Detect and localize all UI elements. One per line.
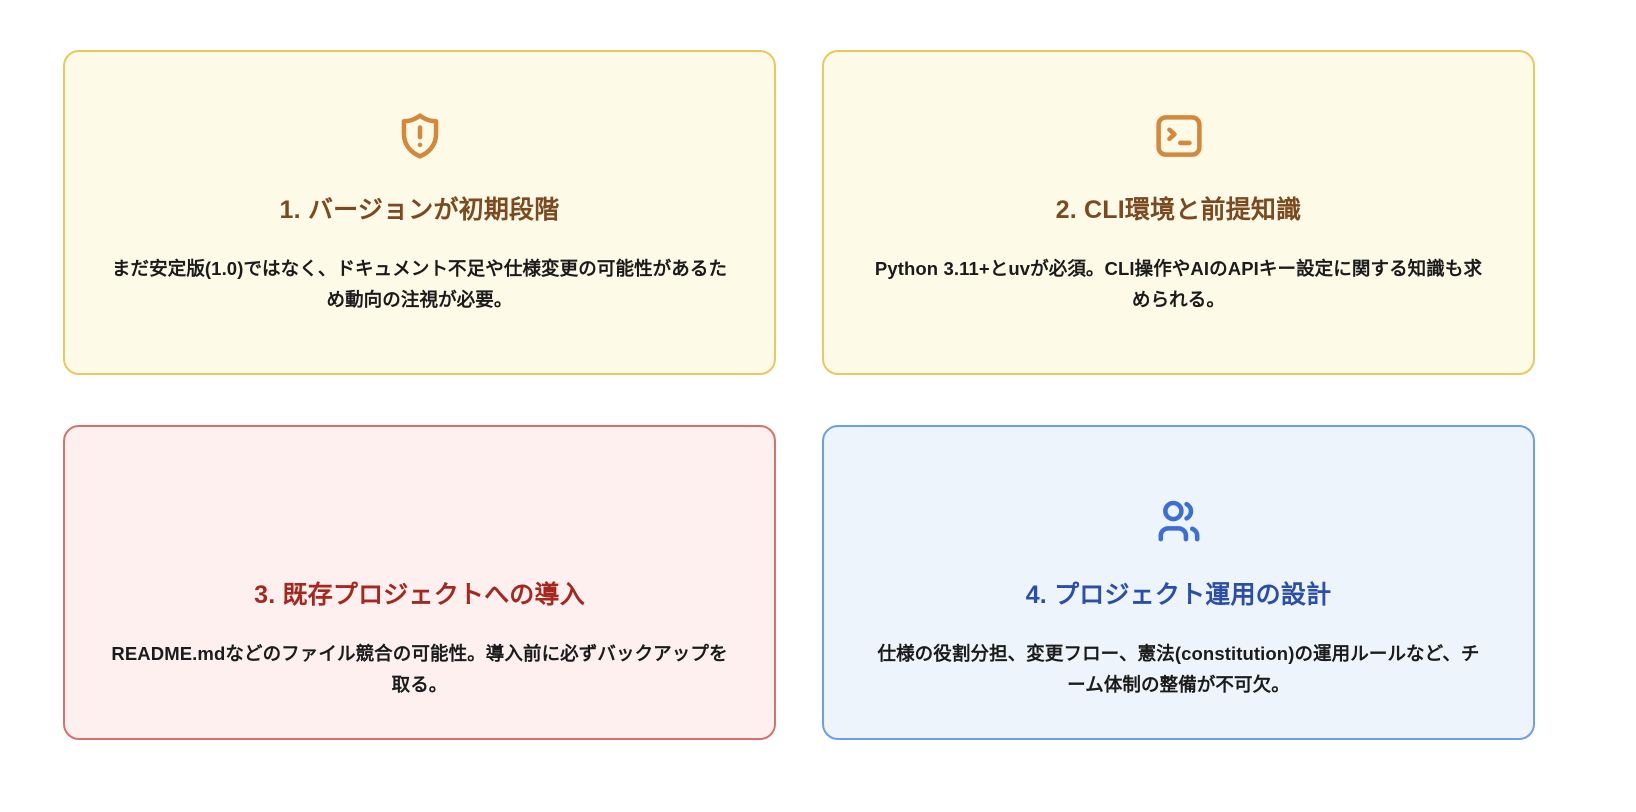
terminal-icon [1151,108,1207,164]
card-existing-project-adoption[interactable]: 3. 既存プロジェクトへの導入 README.mdなどのファイル競合の可能性。導… [63,425,776,740]
shield-alert-icon [392,108,448,164]
card-grid: 1. バージョンが初期段階 まだ安定版(1.0)ではなく、ドキュメント不足や仕様… [0,0,1636,812]
card-icon-placeholder [392,493,448,549]
users-icon [1151,493,1207,549]
card-title: 4. プロジェクト運用の設計 [1026,579,1332,612]
card-description: まだ安定版(1.0)ではなく、ドキュメント不足や仕様変更の可能性があるため動向の… [110,253,730,317]
card-project-operation-design[interactable]: 4. プロジェクト運用の設計 仕様の役割分担、変更フロー、憲法(constitu… [822,425,1535,740]
card-description: Python 3.11+とuvが必須。CLI操作やAIのAPIキー設定に関する知… [869,253,1489,317]
card-version-early-stage[interactable]: 1. バージョンが初期段階 まだ安定版(1.0)ではなく、ドキュメント不足や仕様… [63,50,776,375]
card-title: 1. バージョンが初期段階 [280,194,560,227]
card-title: 2. CLI環境と前提知識 [1056,194,1302,227]
card-description: README.mdなどのファイル競合の可能性。導入前に必ずバックアップを取る。 [110,638,730,702]
card-description: 仕様の役割分担、変更フロー、憲法(constitution)の運用ルールなど、チ… [869,638,1489,702]
card-cli-environment[interactable]: 2. CLI環境と前提知識 Python 3.11+とuvが必須。CLI操作やA… [822,50,1535,375]
card-title: 3. 既存プロジェクトへの導入 [254,579,585,612]
